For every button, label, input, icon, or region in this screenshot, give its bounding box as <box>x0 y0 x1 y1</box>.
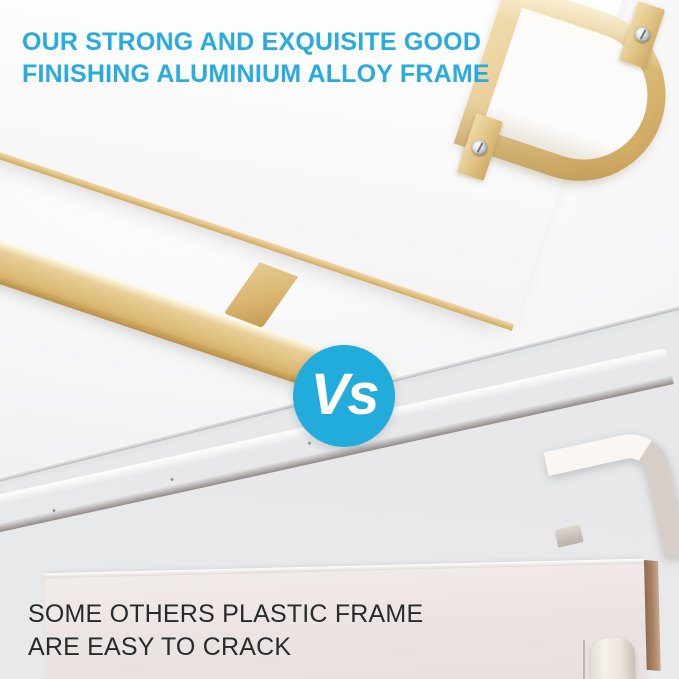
vs-badge-label: Vs <box>311 366 378 424</box>
plastic-bar-blemish <box>170 478 174 482</box>
screw-icon <box>635 27 650 42</box>
bottom-headline: SOME OTHERS PLASTIC FRAME ARE EASY TO CR… <box>28 598 628 664</box>
plastic-frame-elbow-corner <box>543 427 679 580</box>
screw-icon <box>472 140 487 155</box>
product-comparison-image: Vs OUR STRONG AND EXQUISITE GOOD FINISHI… <box>0 0 679 679</box>
vs-badge: Vs <box>293 345 395 447</box>
plastic-board-exposed-core <box>644 560 661 671</box>
top-headline: OUR STRONG AND EXQUISITE GOOD FINISHING … <box>22 26 582 90</box>
plastic-bar-blemish <box>308 441 312 445</box>
plastic-board-top-edge <box>44 559 644 579</box>
